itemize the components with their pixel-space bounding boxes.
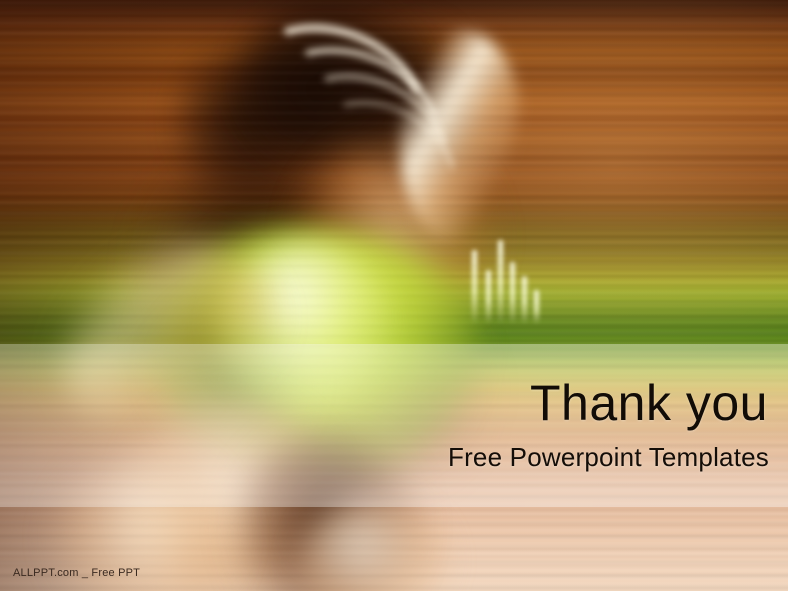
slide-canvas: Thank you Free Powerpoint Templates ALLP… xyxy=(0,0,788,591)
motion-blur-overlay xyxy=(0,0,788,591)
slide-subtitle: Free Powerpoint Templates xyxy=(0,441,769,473)
footer-credit: ALLPPT.com _ Free PPT xyxy=(13,566,140,580)
slide-title: Thank you xyxy=(0,374,768,432)
